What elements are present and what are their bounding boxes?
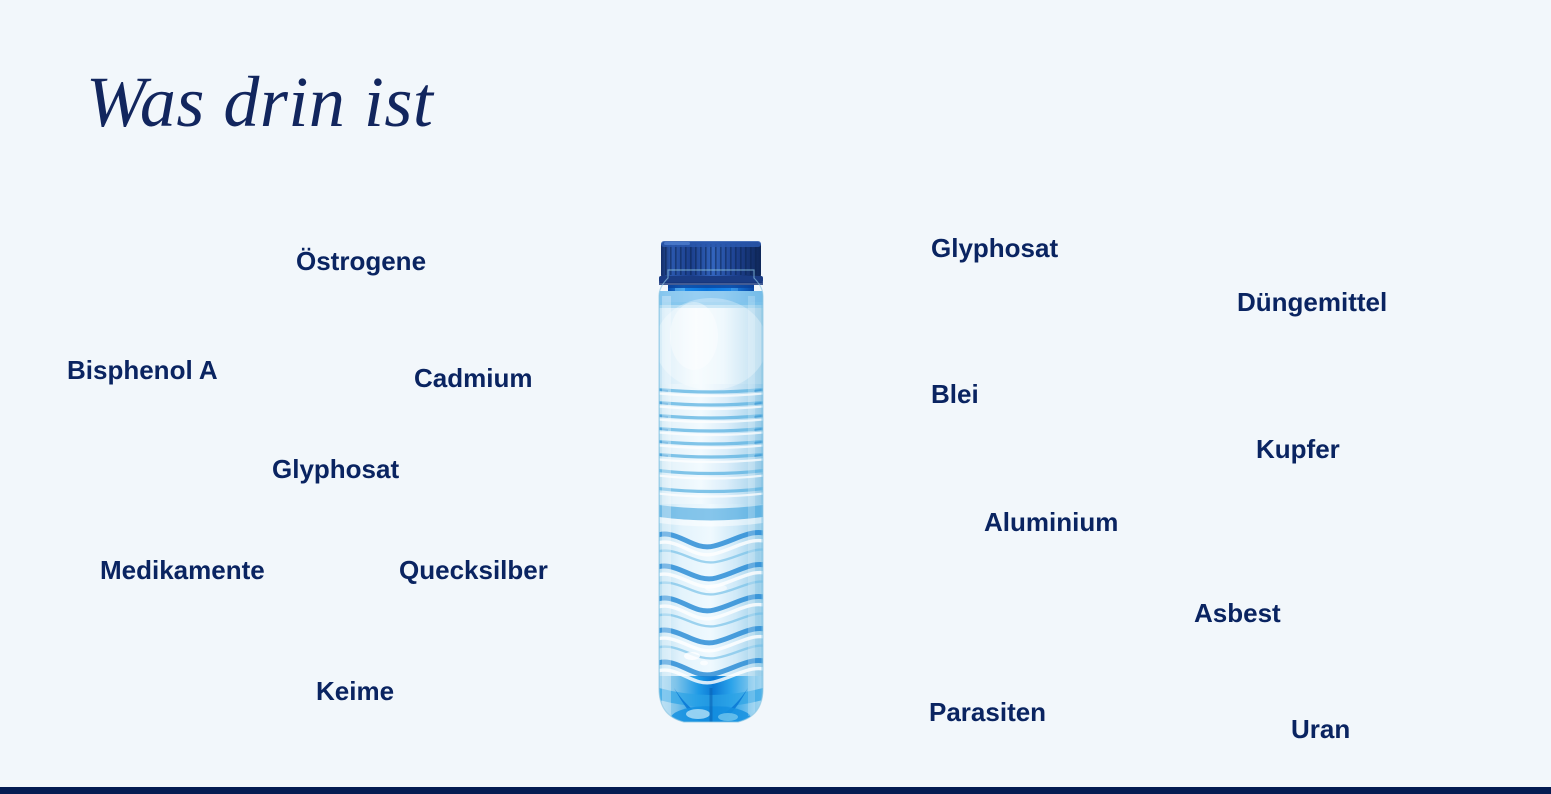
bottle-body xyxy=(648,291,774,730)
bottle-graphic xyxy=(628,236,794,730)
contaminant-label: Quecksilber xyxy=(399,557,548,583)
contaminant-label: Aluminium xyxy=(984,509,1118,535)
contaminant-label: Uran xyxy=(1291,716,1350,742)
contaminant-label: Asbest xyxy=(1194,600,1281,626)
contaminant-label: Cadmium xyxy=(414,365,532,391)
contaminant-label: Glyphosat xyxy=(931,235,1058,261)
contaminant-label: Parasiten xyxy=(929,699,1046,725)
contaminant-label: Östrogene xyxy=(296,248,426,274)
contaminant-label: Medikamente xyxy=(100,557,265,583)
contaminant-label: Glyphosat xyxy=(272,456,399,482)
contaminant-label: Keime xyxy=(316,678,394,704)
page-title: Was drin ist xyxy=(86,66,433,138)
contaminant-label: Bisphenol A xyxy=(67,357,218,383)
contaminant-label: Blei xyxy=(931,381,979,407)
contaminant-label: Düngemittel xyxy=(1237,289,1387,315)
plastic-water-bottle-image xyxy=(628,236,794,730)
bottom-accent-rule xyxy=(0,787,1551,794)
bottle-cap xyxy=(659,241,763,285)
slide-canvas: Was drin ist xyxy=(0,0,1551,794)
contaminant-label: Kupfer xyxy=(1256,436,1340,462)
